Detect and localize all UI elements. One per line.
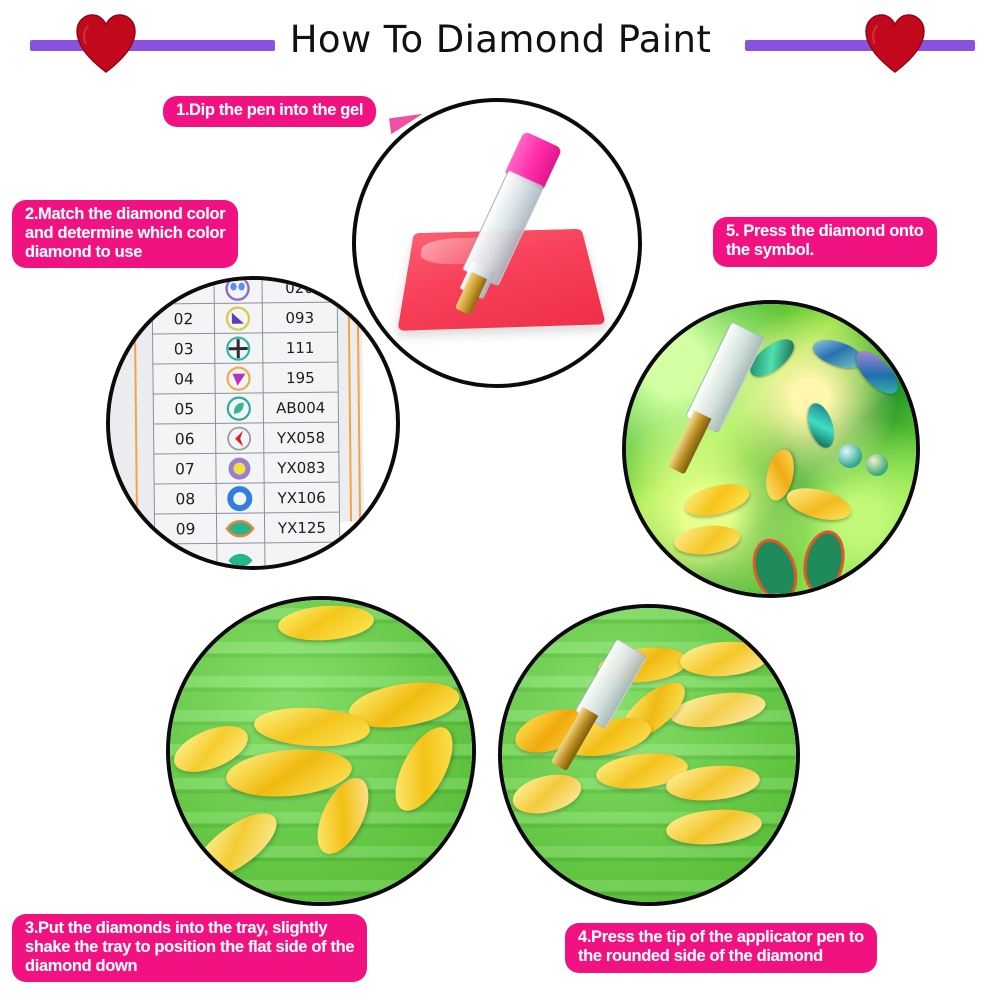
step-4-label: 4.Press the tip of the applicator pen to…: [565, 923, 877, 973]
table-row: 09 YX125: [154, 512, 339, 544]
chart-code: 020: [262, 280, 338, 303]
color-symbol-chart: 020 02 093 03 111: [151, 280, 354, 566]
chart-code: YX106: [264, 482, 340, 513]
table-row: 05 AB004: [153, 392, 338, 424]
chart-code: 195: [263, 362, 339, 393]
table-row: 03 111: [153, 332, 338, 364]
step-3-line-3: diamond down: [25, 957, 354, 976]
page-title: How To Diamond Paint: [0, 18, 1001, 61]
chart-index: 06: [154, 423, 216, 454]
step-3-line-2: shake the tray to position the flat side…: [25, 938, 354, 957]
chart-index: 03: [153, 333, 215, 364]
step-4-photo: [498, 604, 800, 906]
step-3-label: 3.Put the diamonds into the tray, slight…: [12, 914, 367, 982]
step-4-line-1: 4.Press the tip of the applicator pen to: [578, 928, 864, 947]
chevron-left-symbol-icon: [216, 423, 264, 453]
step-1-line-1: 1.Dip the pen into the gel: [176, 101, 363, 120]
chart-index: [152, 280, 214, 304]
filled-dot-symbol-icon: [216, 453, 264, 483]
table-row: 04 195: [153, 362, 338, 394]
step-5-photo: [622, 300, 920, 598]
step-4-line-2: the rounded side of the diamond: [578, 947, 864, 966]
plus-symbol-icon: [215, 333, 263, 363]
table-row: 07 YX083: [154, 452, 339, 484]
gem-round-iridescent-1: [838, 444, 862, 468]
chart-code: 111: [262, 332, 338, 363]
chart-index: 05: [153, 393, 215, 424]
step-1-photo: [352, 98, 642, 388]
chart-code: 093: [262, 302, 338, 333]
leaf-symbol-icon: [217, 543, 265, 566]
chart-index: 07: [154, 453, 216, 484]
double-dot-symbol-icon: [214, 280, 262, 303]
chart-code: AB004: [263, 392, 339, 423]
leaf-symbol-icon: [215, 393, 263, 423]
table-row: 020: [152, 280, 337, 304]
step-2-line-2: and determine which color: [25, 224, 225, 243]
step-5-line-2: the symbol.: [726, 241, 924, 260]
step-2-photo: 020 02 093 03 111: [106, 276, 400, 570]
color-chart-table: 020 02 093 03 111: [151, 280, 340, 566]
chart-index: [155, 543, 217, 566]
chart-index: 04: [153, 363, 215, 394]
chart-code: YX125: [264, 512, 340, 543]
triangle-symbol-icon: [214, 303, 262, 333]
step-3-line-1: 3.Put the diamonds into the tray, slight…: [25, 919, 354, 938]
infographic-root: How To Diamond Paint 1.Dip the pen into …: [0, 0, 1001, 1001]
table-row: 02 093: [152, 302, 337, 334]
step-5-label: 5. Press the diamond onto the symbol.: [713, 217, 937, 267]
eye-leaf-symbol-icon: [216, 513, 264, 543]
table-row: [155, 542, 340, 566]
step-1-label: 1.Dip the pen into the gel: [163, 96, 376, 127]
triangle-down-symbol-icon: [215, 363, 263, 393]
step-5-line-1: 5. Press the diamond onto: [726, 222, 924, 241]
ring-symbol-icon: [216, 483, 264, 513]
chart-code: YX083: [264, 452, 340, 483]
step-3-photo: [166, 596, 476, 906]
color-chart-body: 020 02 093 03 111: [152, 280, 340, 566]
gem-round-iridescent-2: [866, 454, 888, 476]
chart-index: 02: [152, 303, 214, 334]
step-2-line-1: 2.Match the diamond color: [25, 205, 225, 224]
chart-index: 08: [154, 483, 216, 514]
chart-code: [264, 542, 340, 566]
step-2-line-3: diamond to use: [25, 243, 225, 262]
pen-gold-tip: [667, 410, 711, 474]
table-row: 06 YX058: [154, 422, 339, 454]
chart-index: 09: [154, 513, 216, 544]
chart-code: YX058: [263, 422, 339, 453]
table-row: 08 YX106: [154, 482, 339, 514]
step-2-label: 2.Match the diamond color and determine …: [12, 200, 238, 268]
